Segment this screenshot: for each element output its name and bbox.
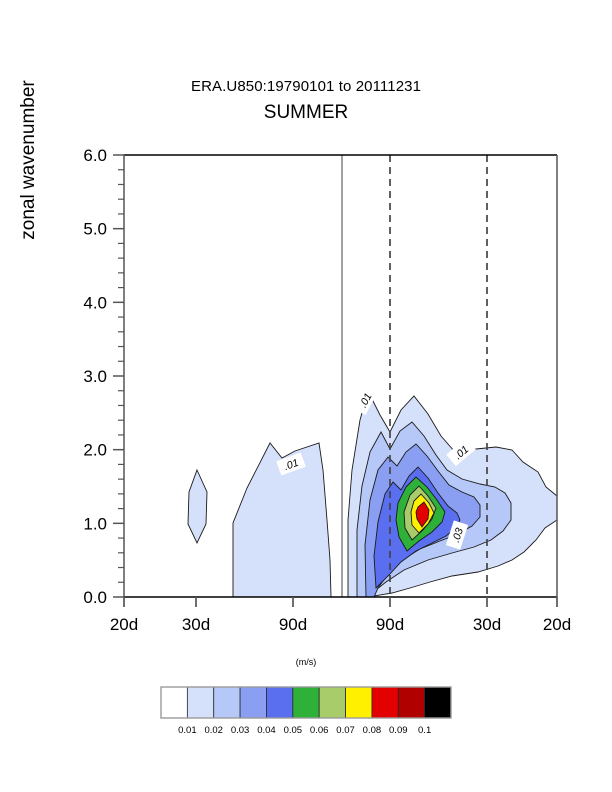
x-tick-label: 20d <box>110 615 138 634</box>
colorbar-tick-label: 0.03 <box>231 725 250 736</box>
x-tick-label: 90d <box>279 615 307 634</box>
colorbar-tick-label: 0.09 <box>389 725 408 736</box>
colorbar[interactable]: 0.010.020.030.040.050.060.070.080.090.1 <box>161 687 451 736</box>
colorbar-swatch[interactable] <box>161 687 187 718</box>
colorbar-swatch[interactable] <box>319 687 345 718</box>
x-tick-label: 90d <box>376 615 404 634</box>
colorbar-swatch[interactable] <box>266 687 292 718</box>
y-tick-label: 4.0 <box>83 293 107 312</box>
colorbar-tick-label: 0.01 <box>178 725 197 736</box>
colorbar-swatch[interactable] <box>372 687 398 718</box>
colorbar-swatch[interactable] <box>214 687 240 718</box>
colorbar-tick-label: 0.1 <box>418 725 431 736</box>
y-tick-label: 3.0 <box>83 367 107 386</box>
x-axis-ticks: 20d30d90d90d30d20d <box>110 597 571 634</box>
y-tick-label: 2.0 <box>83 441 107 460</box>
colorbar-tick-label: 0.04 <box>257 725 276 736</box>
contour-fill-group <box>188 391 557 597</box>
colorbar-tick-label: 0.02 <box>204 725 223 736</box>
y-tick-label: 6.0 <box>83 146 107 165</box>
y-tick-label: 5.0 <box>83 220 107 239</box>
colorbar-swatch[interactable] <box>187 687 213 718</box>
colorbar-swatch[interactable] <box>293 687 319 718</box>
colorbar-swatch[interactable] <box>240 687 266 718</box>
x-tick-label: 30d <box>182 615 210 634</box>
plot-svg: .01 .01 .01 .03 0.01.02.03.04.05.06.0 20… <box>0 0 612 792</box>
colorbar-swatch[interactable] <box>346 687 372 718</box>
colorbar-tick-label: 0.05 <box>284 725 303 736</box>
colorbar-swatch[interactable] <box>398 687 424 718</box>
x-tick-label: 20d <box>543 615 571 634</box>
colorbar-tick-label: 0.07 <box>336 725 355 736</box>
y-tick-label: 0.0 <box>83 588 107 607</box>
y-axis-ticks: 0.01.02.03.04.05.06.0 <box>83 146 124 607</box>
x-tick-label: 30d <box>473 615 501 634</box>
contour-band-0.01-west-blob <box>188 470 207 543</box>
y-tick-label: 1.0 <box>83 514 107 533</box>
figure-root: ERA.U850:19790101 to 20111231 SUMMER zon… <box>0 0 612 792</box>
colorbar-tick-label: 0.08 <box>363 725 382 736</box>
colorbar-swatch[interactable] <box>425 687 451 718</box>
colorbar-tick-label: 0.06 <box>310 725 329 736</box>
